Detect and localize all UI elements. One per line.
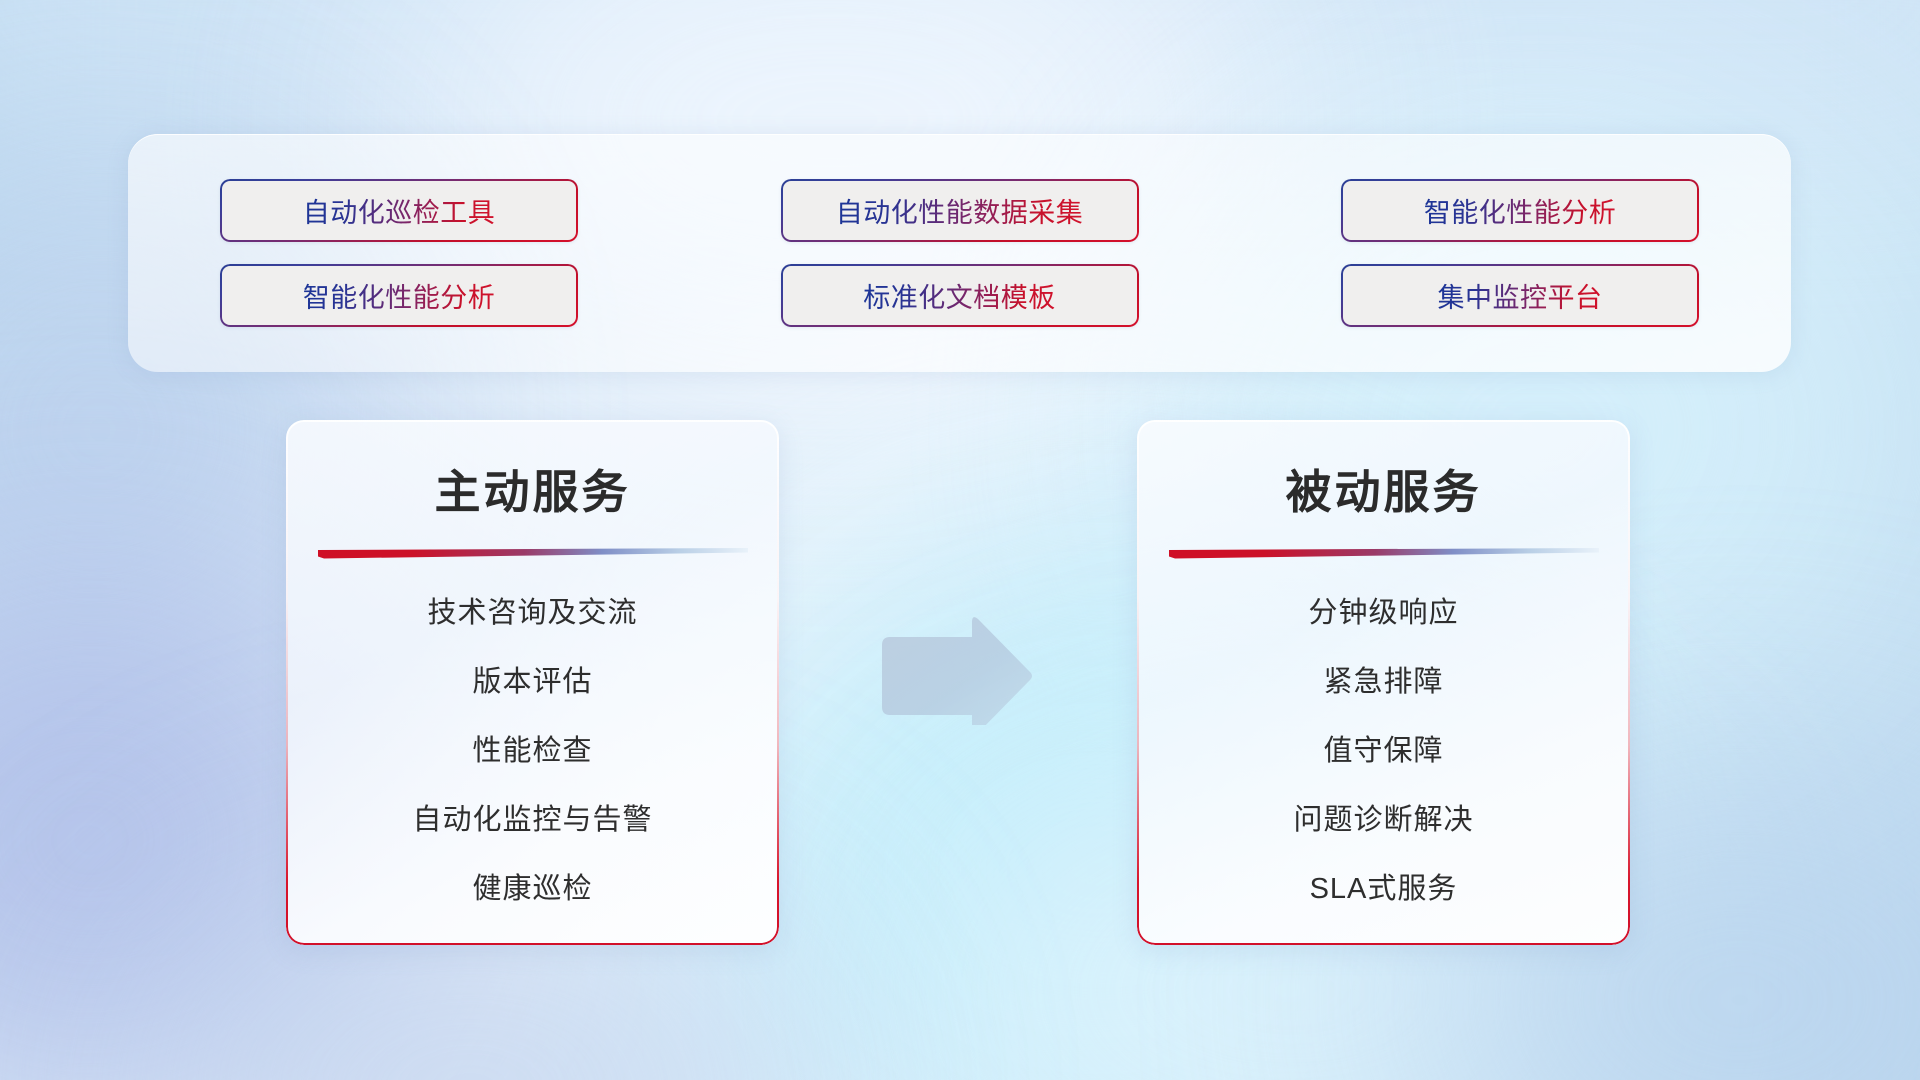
capability-pill-centralized-monitoring-platform[interactable]: 集中监控平台: [1341, 264, 1699, 327]
bg-blob-top: [0, 0, 1920, 140]
capability-row-1: 自动化巡检工具 自动化性能数据采集 智能化性能分析: [128, 179, 1791, 242]
list-item: 版本评估: [286, 668, 779, 697]
list-item: 分钟级响应: [1137, 599, 1630, 628]
list-item: 健康巡检: [286, 875, 779, 904]
capability-panel: 自动化巡检工具 自动化性能数据采集 智能化性能分析 智能化性能分析 标准化文档模…: [128, 134, 1791, 372]
list-item: 值守保障: [1137, 737, 1630, 766]
service-list-reactive: 分钟级响应 紧急排障 值守保障 问题诊断解决 SLA式服务: [1137, 599, 1630, 904]
capability-pill-label: 标准化文档模板: [863, 276, 1056, 315]
capability-pill-automated-performance-data-collection[interactable]: 自动化性能数据采集: [781, 179, 1139, 242]
capability-pill-standardized-doc-template[interactable]: 标准化文档模板: [781, 264, 1139, 327]
service-card-reactive: 被动服务 分钟级响应 紧急排障 值守保障: [1137, 420, 1630, 945]
service-list-proactive: 技术咨询及交流 版本评估 性能检查 自动化监控与告警 健康巡检: [286, 599, 779, 904]
list-item: 自动化监控与告警: [286, 806, 779, 835]
card-title-proactive: 主动服务: [286, 456, 779, 522]
list-item: 性能检查: [286, 737, 779, 766]
list-item: 紧急排障: [1137, 668, 1630, 697]
capability-pill-label: 智能化性能分析: [303, 276, 496, 315]
list-item: SLA式服务: [1137, 875, 1630, 904]
list-item: 技术咨询及交流: [286, 599, 779, 628]
capability-pill-label: 智能化性能分析: [1424, 191, 1617, 230]
capability-pill-label: 集中监控平台: [1438, 276, 1603, 315]
card-divider-reactive: [1169, 548, 1599, 561]
capability-row-2: 智能化性能分析 标准化文档模板 集中监控平台: [128, 264, 1791, 327]
card-title-reactive: 被动服务: [1137, 456, 1630, 522]
service-card-proactive: 主动服务 技术咨询及交流 版本评估 性能检查: [286, 420, 779, 945]
capability-pill-label: 自动化巡检工具: [303, 191, 496, 230]
list-item: 问题诊断解决: [1137, 806, 1630, 835]
capability-pill-label: 自动化性能数据采集: [836, 191, 1084, 230]
card-divider-proactive: [318, 548, 748, 561]
right-arrow-icon: [876, 615, 1036, 725]
capability-pill-intelligent-performance-analysis-1[interactable]: 智能化性能分析: [1341, 179, 1699, 242]
capability-pill-intelligent-performance-analysis-2[interactable]: 智能化性能分析: [220, 264, 578, 327]
capability-pill-automated-inspection-tool[interactable]: 自动化巡检工具: [220, 179, 578, 242]
